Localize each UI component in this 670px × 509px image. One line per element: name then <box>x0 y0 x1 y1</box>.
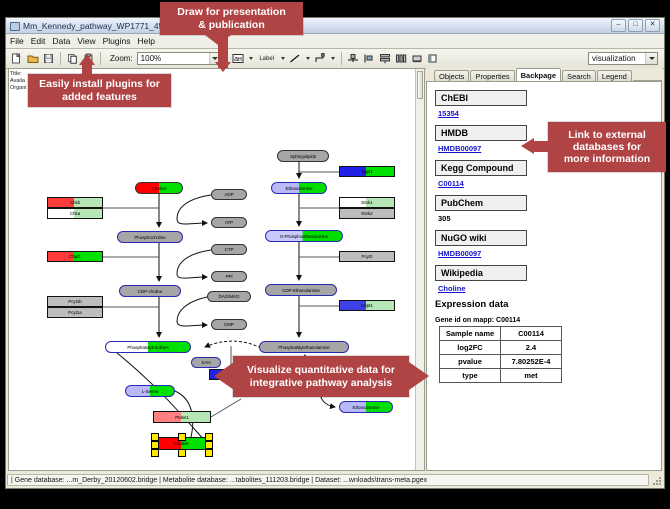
node-dag-mag[interactable]: DAG/MAG <box>207 291 251 302</box>
selection-handle[interactable] <box>151 449 159 457</box>
visualization-value: visualization <box>592 54 636 63</box>
node-ppi[interactable]: PPi <box>211 271 247 282</box>
node-cdp-choline[interactable]: CDP-choline <box>119 285 181 297</box>
callout-quantitative: Visualize quantitative data for integrat… <box>233 356 409 397</box>
label-type-dropdown-icon[interactable] <box>281 57 285 60</box>
node-o-phosphoethanolamine[interactable]: O-Phosphoethanolamine <box>265 230 343 242</box>
zoom-combobox[interactable]: 100% <box>137 52 222 65</box>
cell-key: pvalue <box>440 355 501 369</box>
node-sgpl1[interactable]: Sgpl1 <box>339 166 395 177</box>
label-dropdown-icon[interactable] <box>249 57 253 60</box>
node-cept1[interactable]: Cept1 <box>339 300 395 311</box>
cell-value: 7.80252E-4 <box>501 355 562 369</box>
node-label: CTP <box>225 247 234 252</box>
node-label: L-Serine <box>142 389 159 394</box>
stack-icon[interactable] <box>378 51 393 66</box>
db-title: Wikipedia <box>435 265 527 281</box>
node-cmp[interactable]: CMP <box>211 319 247 330</box>
node-ctp[interactable]: CTP <box>211 244 247 255</box>
scrollbar-thumb[interactable] <box>417 71 423 99</box>
menu-item-help[interactable]: Help <box>138 36 155 46</box>
label-button[interactable]: Label <box>256 51 278 66</box>
node-adp[interactable]: ADP <box>211 189 247 200</box>
cell-key: log2FC <box>440 341 501 355</box>
db-link-nugo[interactable]: HMDB00097 <box>438 249 653 258</box>
tab-backpage[interactable]: Backpage <box>516 68 561 81</box>
node-label: Phosphatidylethanolamine <box>278 345 330 350</box>
db-title: Kegg Compound <box>435 160 527 176</box>
callout-quantitative-tip-left <box>214 362 234 390</box>
db-title: HMDB <box>435 125 527 141</box>
node-pcyt1a[interactable]: Pcyt1a <box>47 307 103 318</box>
node-label: Chpt1 <box>69 254 81 259</box>
node-label: PPi <box>226 274 233 279</box>
open-folder-icon[interactable] <box>25 51 40 66</box>
node-label: Pcyt2 <box>362 254 373 259</box>
connector-icon[interactable] <box>313 51 328 66</box>
menu-item-plugins[interactable]: Plugins <box>103 36 131 46</box>
db-title: PubChem <box>435 195 527 211</box>
node-label: Ptdss1 <box>175 415 188 420</box>
node-label: Phosphocholine <box>134 235 165 240</box>
node-chpt1[interactable]: Chpt1 <box>47 251 103 262</box>
maximize-button[interactable]: □ <box>628 19 643 32</box>
callout-plugins: Easily install plugins for added feature… <box>28 74 171 107</box>
selection-handle[interactable] <box>205 441 213 449</box>
node-label: ATP <box>225 220 233 225</box>
new-file-icon[interactable] <box>9 51 24 66</box>
node-pcyt2[interactable]: Pcyt2 <box>339 251 395 262</box>
selection-handle[interactable] <box>151 441 159 449</box>
menu-item-data[interactable]: Data <box>52 36 70 46</box>
tab-objects[interactable]: Objects <box>434 70 469 81</box>
menu-bar: File Edit Data View Plugins Help <box>6 34 664 49</box>
callout-draw: Draw for presentation & publication <box>160 2 303 35</box>
line-icon[interactable] <box>288 51 303 66</box>
distribute-icon[interactable] <box>394 51 409 66</box>
callout-external-db: Link to external databases for more info… <box>548 122 666 172</box>
connector-dropdown-icon[interactable] <box>331 57 335 60</box>
node-label: Choline <box>174 441 189 446</box>
node-label: Choline <box>152 186 167 191</box>
menu-item-view[interactable]: View <box>77 36 95 46</box>
callout-draw-tip <box>215 62 231 72</box>
node-phosphocholine[interactable]: Phosphocholine <box>117 231 183 243</box>
node-label: Pcyt1b <box>68 299 81 304</box>
node-label: Ethanolamine <box>353 405 380 410</box>
zoom-label: Zoom: <box>110 54 133 63</box>
selection-handle[interactable] <box>178 433 186 441</box>
text-label-icon[interactable]: aн <box>231 51 246 66</box>
line-dropdown-icon[interactable] <box>306 57 310 60</box>
db-section-chebi: ChEBI 15354 <box>435 88 653 118</box>
table-row: type met <box>440 369 562 383</box>
zoom-value: 100% <box>141 54 161 63</box>
node-label: Chka <box>70 211 80 216</box>
align-center-icon[interactable] <box>346 51 361 66</box>
title-bar: Mm_Kennedy_pathway_WP1771_45176.gpml – □… <box>6 18 664 34</box>
table-row: log2FC 2.4 <box>440 341 562 355</box>
expression-table: Sample name C00114 log2FC 2.4 pvalue 7.8… <box>439 326 562 383</box>
db-link-kegg[interactable]: C00114 <box>438 179 653 188</box>
node-sphingolipids[interactable]: Sphingolipids <box>277 150 329 162</box>
cell-value: met <box>501 369 562 383</box>
node-ethanolamine-bottom[interactable]: Ethanolamine <box>339 401 393 413</box>
table-row: pvalue 7.80252E-4 <box>440 355 562 369</box>
selection-handle[interactable] <box>205 449 213 457</box>
table-row: Sample name C00114 <box>440 327 562 341</box>
selection-handle[interactable] <box>151 433 159 441</box>
node-label: CMP <box>224 322 234 327</box>
cell-value: 2.4 <box>501 341 562 355</box>
node-choline[interactable]: Choline <box>135 182 183 194</box>
node-label: CDP-choline <box>138 289 163 294</box>
callout-plugins-tip <box>79 54 95 65</box>
align-left-icon[interactable] <box>362 51 377 66</box>
node-label: CDP-Ethanolamine <box>282 288 320 293</box>
node-label: Chkb <box>70 200 80 205</box>
db-title: ChEBI <box>435 90 527 106</box>
callout-text: Visualize quantitative data for integrat… <box>247 364 395 388</box>
db-value-pubchem: 305 <box>438 214 653 223</box>
expression-data-heading: Expression data <box>435 299 653 310</box>
db-title: NuGO wiki <box>435 230 527 246</box>
node-label: Cept1 <box>361 303 373 308</box>
node-etnk1[interactable]: Etnk1 <box>339 197 395 208</box>
node-chkb[interactable]: Chkb <box>47 197 103 208</box>
menu-item-file[interactable]: File <box>10 36 24 46</box>
node-ptdss1[interactable]: Ptdss1 <box>153 411 211 423</box>
group-icon[interactable] <box>410 51 425 66</box>
order-icon[interactable] <box>426 51 441 66</box>
canvas-scrollbar[interactable] <box>415 69 424 470</box>
minimize-button[interactable]: – <box>611 19 626 32</box>
copy-icon[interactable] <box>65 51 80 66</box>
node-label: Sphingolipids <box>290 154 316 159</box>
node-label: DAG/MAG <box>219 294 240 299</box>
node-chka[interactable]: Chka <box>47 208 103 219</box>
db-link-chebi[interactable]: 15354 <box>438 109 653 118</box>
db-section-pubchem: PubChem 305 <box>435 193 653 223</box>
tab-legend[interactable]: Legend <box>597 70 632 81</box>
side-panel-tabs: Objects Properties Backpage Search Legen… <box>426 68 662 81</box>
resize-grip-icon[interactable] <box>651 474 663 486</box>
node-ethanolamine-top[interactable]: Ethanolamine <box>271 182 327 194</box>
callout-text: Easily install plugins for added feature… <box>39 78 160 102</box>
pathway-canvas[interactable]: Title: Availa Organi <box>8 68 425 471</box>
db-section-wikipedia: Wikipedia Choline <box>435 263 653 293</box>
menu-item-edit[interactable]: Edit <box>31 36 46 46</box>
callout-text: Link to external databases for more info… <box>564 129 650 165</box>
save-icon[interactable] <box>41 51 56 66</box>
status-text: | Gene database: ...m_Derby_20120602.bri… <box>7 474 649 486</box>
node-label: Etnk2 <box>361 211 372 216</box>
callout-quantitative-tip-right <box>409 362 429 390</box>
selection-handle[interactable] <box>205 433 213 441</box>
status-bar: | Gene database: ...m_Derby_20120602.bri… <box>7 473 663 487</box>
cell-key: type <box>440 369 501 383</box>
node-pcyt1b[interactable]: Pcyt1b <box>47 296 103 307</box>
callout-plugins-stem <box>82 64 92 76</box>
node-phosphatidylethanolamine[interactable]: Phosphatidylethanolamine <box>259 341 349 353</box>
node-l-serine-left[interactable]: L-Serine <box>125 385 175 397</box>
close-button[interactable]: ✕ <box>645 19 660 32</box>
chevron-down-icon[interactable] <box>645 53 657 64</box>
node-cdp-ethanolamine[interactable]: CDP-Ethanolamine <box>265 284 337 296</box>
node-label: O-Phosphoethanolamine <box>280 234 329 239</box>
visualization-combobox[interactable]: visualization <box>588 52 658 65</box>
node-phosphatidylcholines[interactable]: Phosphatidylcholines <box>105 341 191 353</box>
tab-properties[interactable]: Properties <box>470 70 514 81</box>
node-label: ADP <box>224 192 233 197</box>
node-atp[interactable]: ATP <box>211 217 247 228</box>
toolbar: Zoom: 100% aн Label <box>6 49 664 69</box>
node-etnk2[interactable]: Etnk2 <box>339 208 395 219</box>
svg-text:aн: aн <box>234 56 242 63</box>
tab-search[interactable]: Search <box>562 70 596 81</box>
node-label: Sgpl1 <box>361 169 372 174</box>
cell-key: Sample name <box>440 327 501 341</box>
callout-external-tip <box>521 138 534 154</box>
node-label: Phosphatidylcholines <box>127 345 168 350</box>
callout-external-stem <box>533 141 549 152</box>
gene-id-label: Gene id on mapp: C00114 <box>435 317 653 324</box>
selection-handle[interactable] <box>178 449 186 457</box>
db-section-nugo: NuGO wiki HMDB00097 <box>435 228 653 258</box>
node-label: Ethanolamine <box>286 186 313 191</box>
pathvisio-icon <box>10 21 19 30</box>
callout-text: Draw for presentation & publication <box>177 6 286 30</box>
db-link-wikipedia[interactable]: Choline <box>438 284 653 293</box>
node-label: Pcyt1a <box>68 310 81 315</box>
node-label: SAH <box>201 360 210 365</box>
node-label: Etnk1 <box>361 200 372 205</box>
cell-value: C00114 <box>501 327 562 341</box>
